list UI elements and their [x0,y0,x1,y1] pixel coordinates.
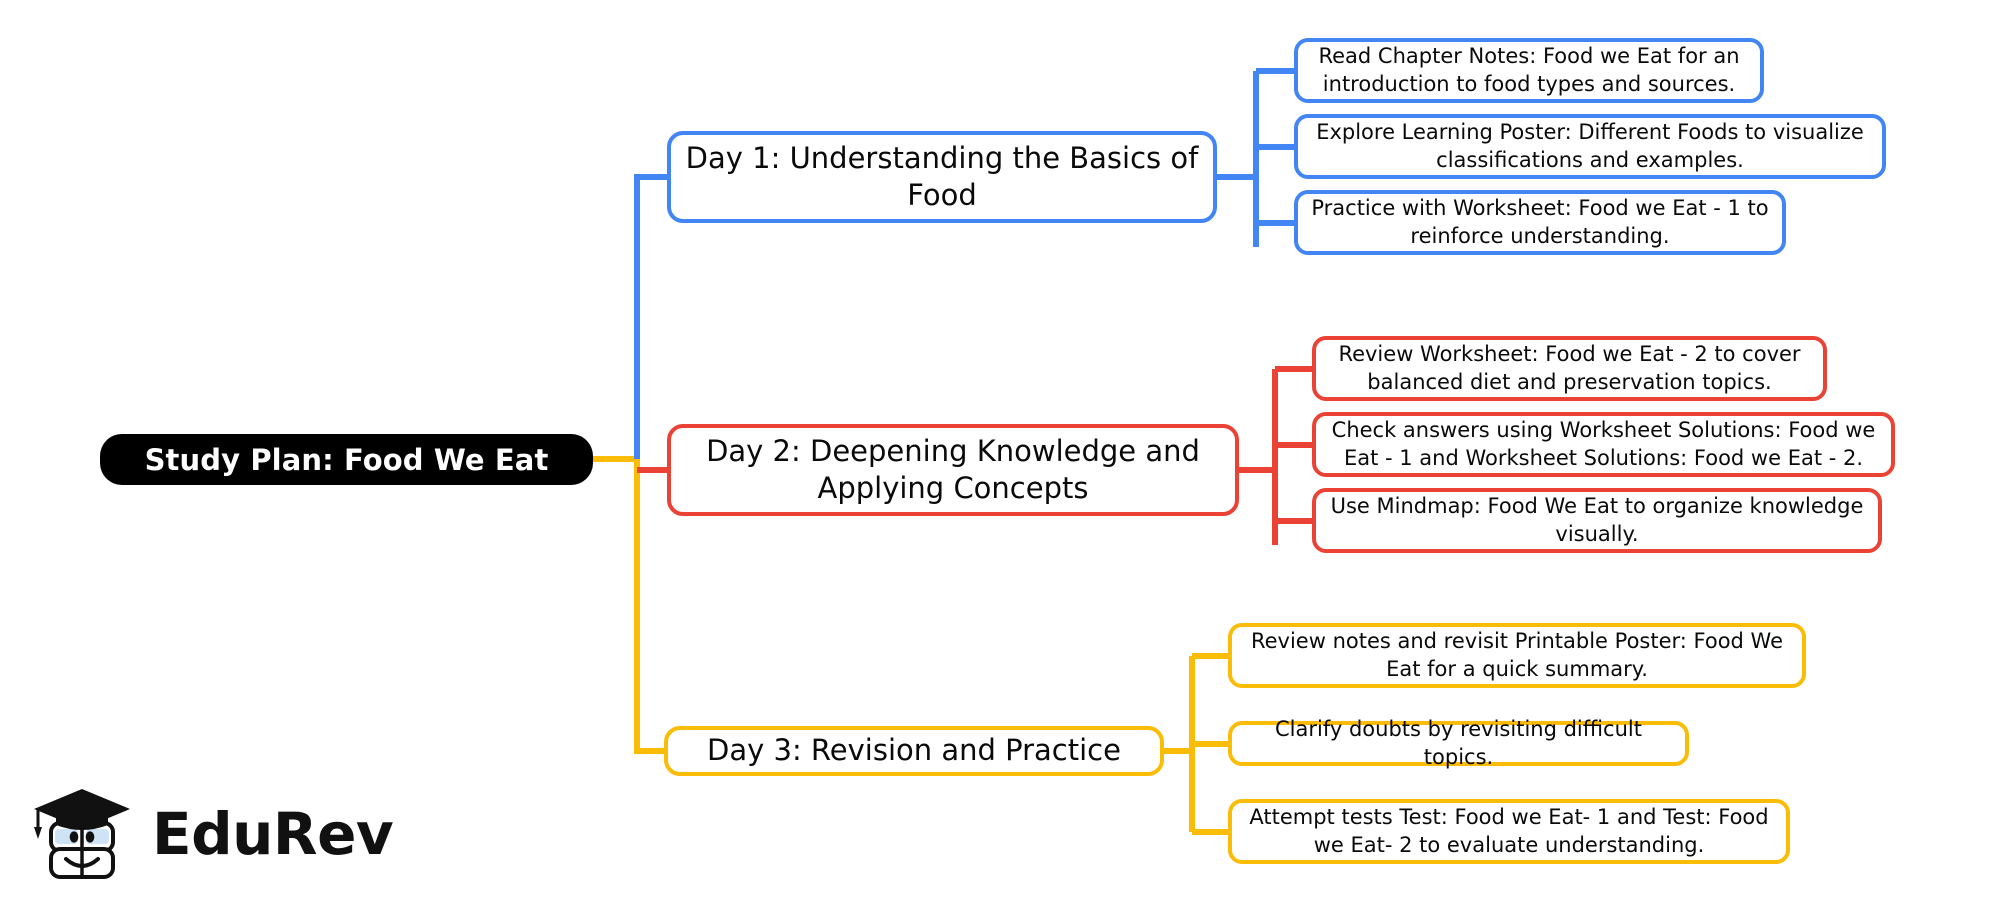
branch-node-day-3[interactable]: Day 3: Revision and Practice [664,726,1164,776]
leaf-node-label: Explore Learning Poster: Different Foods… [1311,119,1869,174]
branch-node-day-1[interactable]: Day 1: Understanding the Basics of Food [667,131,1217,223]
leaf-node-day-1-task-2[interactable]: Explore Learning Poster: Different Foods… [1294,114,1886,179]
leaf-node-label: Check answers using Worksheet Solutions:… [1329,417,1878,472]
connector-day2-children [1239,369,1312,545]
edurev-wordmark: EduRev [152,805,393,869]
leaf-node-label: Review Worksheet: Food we Eat - 2 to cov… [1329,341,1810,396]
leaf-node-label: Attempt tests Test: Food we Eat- 1 and T… [1245,804,1773,859]
branch-node-label: Day 3: Revision and Practice [707,732,1121,769]
leaf-node-day-1-task-1[interactable]: Read Chapter Notes: Food we Eat for an i… [1294,38,1764,103]
leaf-node-day-2-task-2[interactable]: Check answers using Worksheet Solutions:… [1312,412,1895,477]
leaf-node-day-2-task-1[interactable]: Review Worksheet: Food we Eat - 2 to cov… [1312,336,1827,401]
leaf-node-day-2-task-3[interactable]: Use Mindmap: Food We Eat to organize kno… [1312,488,1882,553]
connector-root-to-day3 [593,459,664,751]
leaf-node-day-3-task-1[interactable]: Review notes and revisit Printable Poste… [1228,623,1806,688]
leaf-node-label: Clarify doubts by revisiting difficult t… [1245,716,1672,771]
graduation-cap-mascot-icon [30,783,138,891]
connector-day1-children [1217,71,1294,247]
root-node-label: Study Plan: Food We Eat [145,443,549,477]
leaf-node-label: Practice with Worksheet: Food we Eat - 1… [1311,195,1769,250]
connector-day3-children [1164,656,1228,832]
branch-node-label: Day 2: Deepening Knowledge and Applying … [685,433,1221,507]
leaf-node-label: Read Chapter Notes: Food we Eat for an i… [1311,43,1747,98]
branch-node-day-2[interactable]: Day 2: Deepening Knowledge and Applying … [667,424,1239,516]
leaf-node-day-3-task-3[interactable]: Attempt tests Test: Food we Eat- 1 and T… [1228,799,1790,864]
mindmap-canvas: Study Plan: Food We Eat Day 1: Understan… [0,0,2003,913]
edurev-logo[interactable]: EduRev [30,783,393,891]
root-node-study-plan[interactable]: Study Plan: Food We Eat [100,434,593,485]
leaf-node-label: Use Mindmap: Food We Eat to organize kno… [1329,493,1865,548]
branch-node-label: Day 1: Understanding the Basics of Food [685,140,1199,214]
leaf-node-label: Review notes and revisit Printable Poste… [1245,628,1789,683]
leaf-node-day-3-task-2[interactable]: Clarify doubts by revisiting difficult t… [1228,721,1689,766]
connector-root-to-day1 [637,177,667,459]
leaf-node-day-1-task-3[interactable]: Practice with Worksheet: Food we Eat - 1… [1294,190,1786,255]
